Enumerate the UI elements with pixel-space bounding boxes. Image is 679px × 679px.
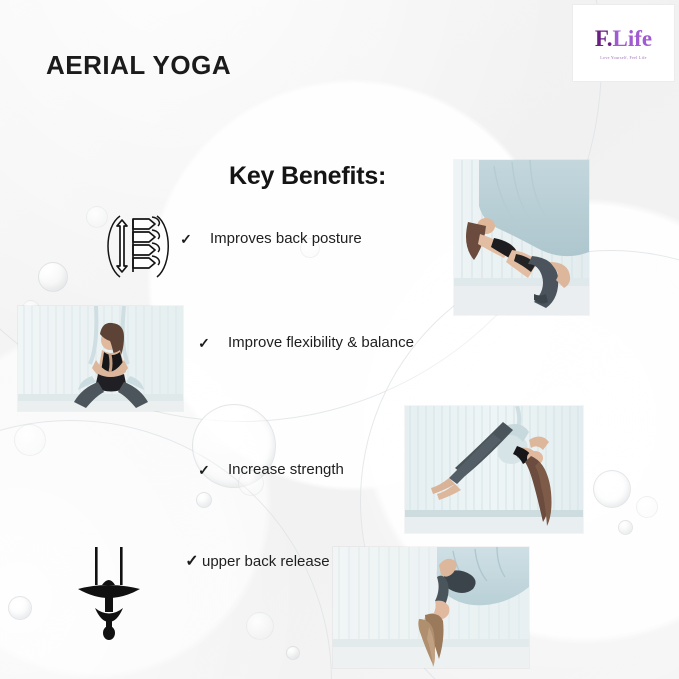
photo-hammock-backbend	[454, 160, 589, 315]
check-icon: ✓	[196, 463, 212, 477]
bubble-decoration	[636, 496, 658, 518]
bubble-decoration	[593, 470, 631, 508]
poster-canvas: AERIAL YOGA F.Life Love Yourself, Feel L…	[0, 0, 679, 679]
brand-logo: F.Life Love Yourself, Feel Life	[572, 4, 675, 82]
check-icon: ✓	[196, 336, 212, 350]
bubble-decoration	[8, 596, 32, 620]
check-icon: ✓	[184, 554, 200, 570]
bubble-decoration	[196, 492, 212, 508]
check-icon: ✓	[178, 232, 194, 246]
benefit-row: ✓ Improves back posture	[178, 230, 362, 247]
benefit-label: Improve flexibility & balance	[228, 334, 414, 351]
bubble-decoration	[246, 612, 274, 640]
section-heading: Key Benefits:	[229, 162, 386, 191]
logo-word-primary: F.	[595, 26, 613, 51]
photo-seated-prayer	[18, 306, 183, 411]
logo-wordmark: F.Life	[595, 27, 652, 50]
logo-tagline: Love Yourself, Feel Life	[600, 55, 646, 60]
benefit-label: Increase strength	[228, 461, 344, 478]
benefit-row: ✓ upper back release	[184, 553, 330, 570]
bubble-decoration	[286, 646, 300, 660]
photo-inverted-split	[405, 406, 583, 533]
photo-upside-down-hang	[333, 547, 529, 668]
aerial-hanging-figure-icon	[62, 545, 158, 645]
logo-word-secondary: Life	[613, 26, 653, 51]
benefit-label: Improves back posture	[210, 230, 362, 247]
bubble-decoration	[14, 424, 46, 456]
benefit-row: ✓ Improve flexibility & balance	[196, 334, 414, 351]
benefit-label: upper back release	[202, 553, 330, 570]
bubble-decoration	[618, 520, 633, 535]
page-title: AERIAL YOGA	[46, 50, 231, 81]
background-sweep-bottom	[0, 420, 332, 679]
benefit-row: ✓ Increase strength	[196, 461, 344, 478]
spine-stretch-icon	[100, 207, 176, 285]
bubble-decoration	[38, 262, 68, 292]
